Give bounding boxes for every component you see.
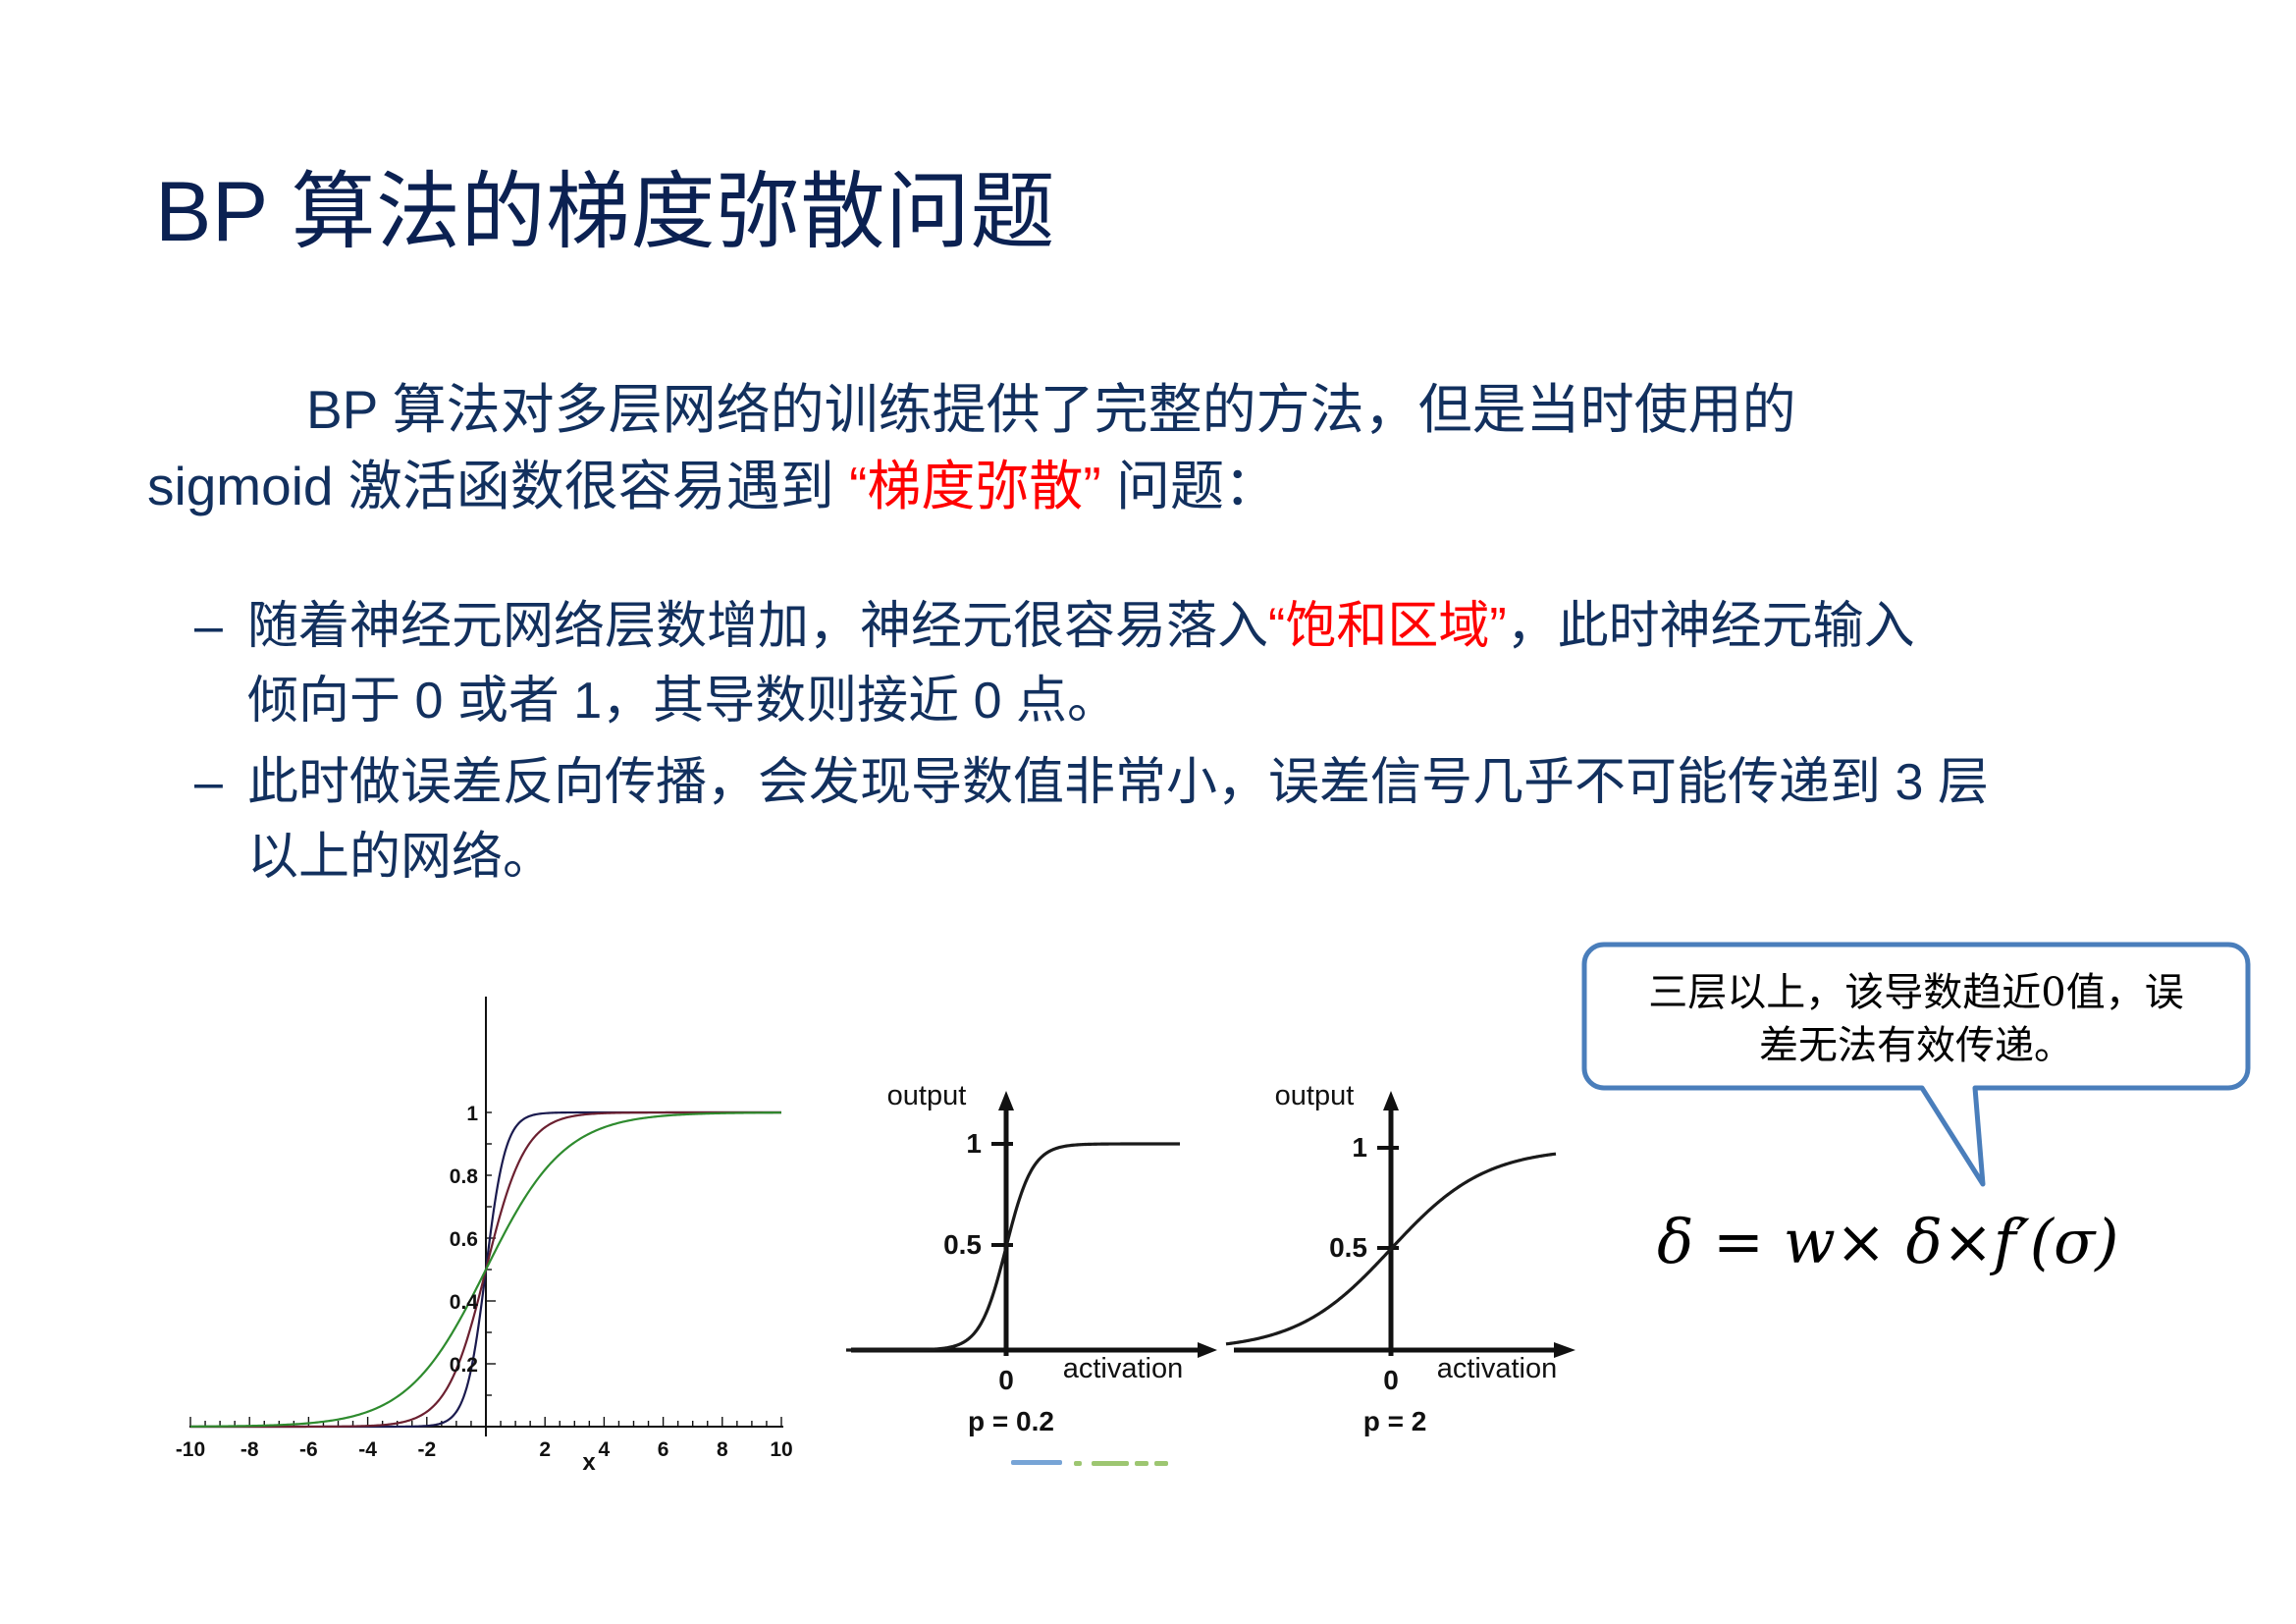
svg-text:-10: -10 [176, 1438, 205, 1461]
bullet-1-line-1-highlight: “饱和区域” [1268, 598, 1507, 655]
bullet-dash-icon: – [194, 589, 247, 664]
right-chart-ytick-05: 0.5 [1329, 1232, 1367, 1263]
mid-chart-ytick-1: 1 [966, 1128, 982, 1159]
right-chart-title: p = 2 [1363, 1406, 1427, 1436]
svg-text:0.4: 0.4 [450, 1291, 479, 1314]
left-chart-xlabel: x [582, 1449, 596, 1476]
paragraph-line-2-highlight: “梯度弥散” [849, 456, 1101, 516]
svg-text:0.8: 0.8 [450, 1165, 479, 1188]
gradient-formula: δ = w× δ×f′(σ) [1657, 1206, 2118, 1277]
left-chart-x-ticklabels: -10-8-6-4-2246810 [176, 1438, 793, 1461]
page-title: BP 算法的梯度弥散问题 [155, 165, 1055, 259]
formula-delta-2: δ [1905, 1206, 1942, 1277]
bullet-2-text: 此时做误差反向传播，会发现导数值非常小，误差信号几乎不可能传递到 3 层 以上的… [247, 745, 2216, 895]
right-chart-x-arrow-icon [1554, 1342, 1575, 1358]
bullet-1-line-2: 倾向于 0 或者 1，其导数则接近 0 点。 [247, 664, 2216, 738]
paragraph-line-2: sigmoid 激活函数很容易遇到 “梯度弥散” 问题： [147, 448, 2169, 524]
intro-paragraph: BP 算法对多层网络的训练提供了完整的方法，但是当时使用的 sigmoid 激活… [147, 371, 2169, 524]
svg-text:8: 8 [717, 1438, 728, 1461]
chart-sigmoid-p2: output 1 0.5 0 activation p = 2 [1212, 1065, 1615, 1458]
mid-chart-ytick-05: 0.5 [943, 1229, 982, 1260]
mid-chart-ylabel: output [887, 1080, 967, 1111]
mid-chart-y-arrow-icon [998, 1091, 1014, 1110]
callout-outline [1584, 945, 2248, 1184]
bullet-1-line-1-suffix: ，此时神经元输入 [1507, 598, 1915, 655]
svg-text:-8: -8 [240, 1438, 259, 1461]
callout-bubble: 三层以上，该导数趋近0值，误 差无法有效传递。 [1582, 943, 2250, 1090]
svg-text:0.6: 0.6 [450, 1228, 478, 1251]
right-chart-y-arrow-icon [1383, 1091, 1399, 1110]
bullet-1-line-1-prefix: 随着神经元网络层数增加，神经元很容易落入 [247, 598, 1268, 655]
bullet-1-line-1: 随着神经元网络层数增加，神经元很容易落入“饱和区域”，此时神经元输入 [247, 589, 2216, 664]
list-item: – 此时做误差反向传播，会发现导数值非常小，误差信号几乎不可能传递到 3 层 以… [194, 745, 2216, 895]
left-chart-y-ticklabels: 0.20.40.60.81 [450, 1103, 479, 1377]
right-chart-ytick-1: 1 [1352, 1132, 1367, 1163]
svg-text:10: 10 [770, 1438, 792, 1461]
slide-canvas: BP 算法的梯度弥散问题 BP 算法对多层网络的训练提供了完整的方法，但是当时使… [0, 0, 2296, 1624]
svg-text:4: 4 [599, 1438, 611, 1461]
svg-text:-6: -6 [299, 1438, 318, 1461]
svg-text:-4: -4 [358, 1438, 377, 1461]
svg-text:1: 1 [466, 1103, 478, 1125]
list-item: – 随着神经元网络层数增加，神经元很容易落入“饱和区域”，此时神经元输入 倾向于… [194, 589, 2216, 739]
svg-text:-2: -2 [417, 1438, 436, 1461]
svg-text:6: 6 [658, 1438, 669, 1461]
bullet-dash-icon: – [194, 745, 247, 820]
decorative-artifact [1011, 1460, 1168, 1468]
formula-w: w [1784, 1206, 1836, 1277]
formula-times-2: × [1943, 1206, 1994, 1277]
paragraph-line-2-prefix: sigmoid 激活函数很容易遇到 [147, 456, 849, 516]
formula-fprime: f′(σ) [1994, 1206, 2119, 1277]
right-chart-xtick-0: 0 [1383, 1365, 1399, 1395]
paragraph-line-2-suffix: 问题： [1101, 456, 1278, 516]
formula-times-1: × [1836, 1206, 1887, 1277]
formula-equals: = [1713, 1206, 1764, 1277]
bullet-1-text: 随着神经元网络层数增加，神经元很容易落入“饱和区域”，此时神经元输入 倾向于 0… [247, 589, 2216, 739]
right-chart-ylabel: output [1275, 1080, 1355, 1111]
mid-chart-xtick-0: 0 [998, 1365, 1014, 1395]
bullet-2-line-2: 以上的网络。 [247, 820, 2216, 894]
mid-chart-xlabel: activation [1063, 1353, 1184, 1384]
paragraph-line-1: BP 算法对多层网络的训练提供了完整的方法，但是当时使用的 [147, 371, 2169, 448]
bullet-list: – 随着神经元网络层数增加，神经元很容易落入“饱和区域”，此时神经元输入 倾向于… [194, 589, 2216, 901]
svg-text:0.2: 0.2 [450, 1354, 478, 1377]
right-chart-xlabel: activation [1437, 1353, 1558, 1384]
svg-text:2: 2 [539, 1438, 551, 1461]
chart-sigmoid-family: -10-8-6-4-2246810 0.20.40.60.81 x [165, 967, 798, 1478]
formula-delta: δ [1657, 1206, 1693, 1277]
chart-sigmoid-p02: output 1 0.5 0 activation p = 0.2 [846, 1065, 1229, 1458]
mid-chart-title: p = 0.2 [968, 1406, 1054, 1436]
bullet-2-line-1: 此时做误差反向传播，会发现导数值非常小，误差信号几乎不可能传递到 3 层 [247, 745, 2216, 820]
